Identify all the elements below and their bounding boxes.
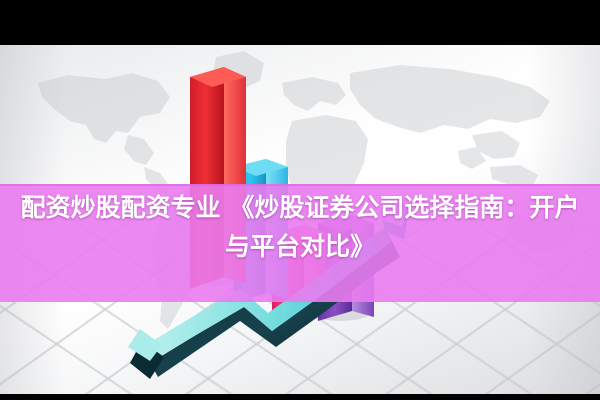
top-letterbox-bar	[0, 0, 600, 45]
banner-image: 配资炒股配资专业 《炒股证券公司选择指南：开户与平台对比》	[0, 0, 600, 400]
title-band-top-edge	[0, 184, 600, 186]
bottom-letterbox-bar	[0, 394, 600, 400]
headline-text: 配资炒股配资专业 《炒股证券公司选择指南：开户与平台对比》	[0, 188, 600, 266]
artwork-canvas: 配资炒股配资专业 《炒股证券公司选择指南：开户与平台对比》	[0, 45, 600, 394]
